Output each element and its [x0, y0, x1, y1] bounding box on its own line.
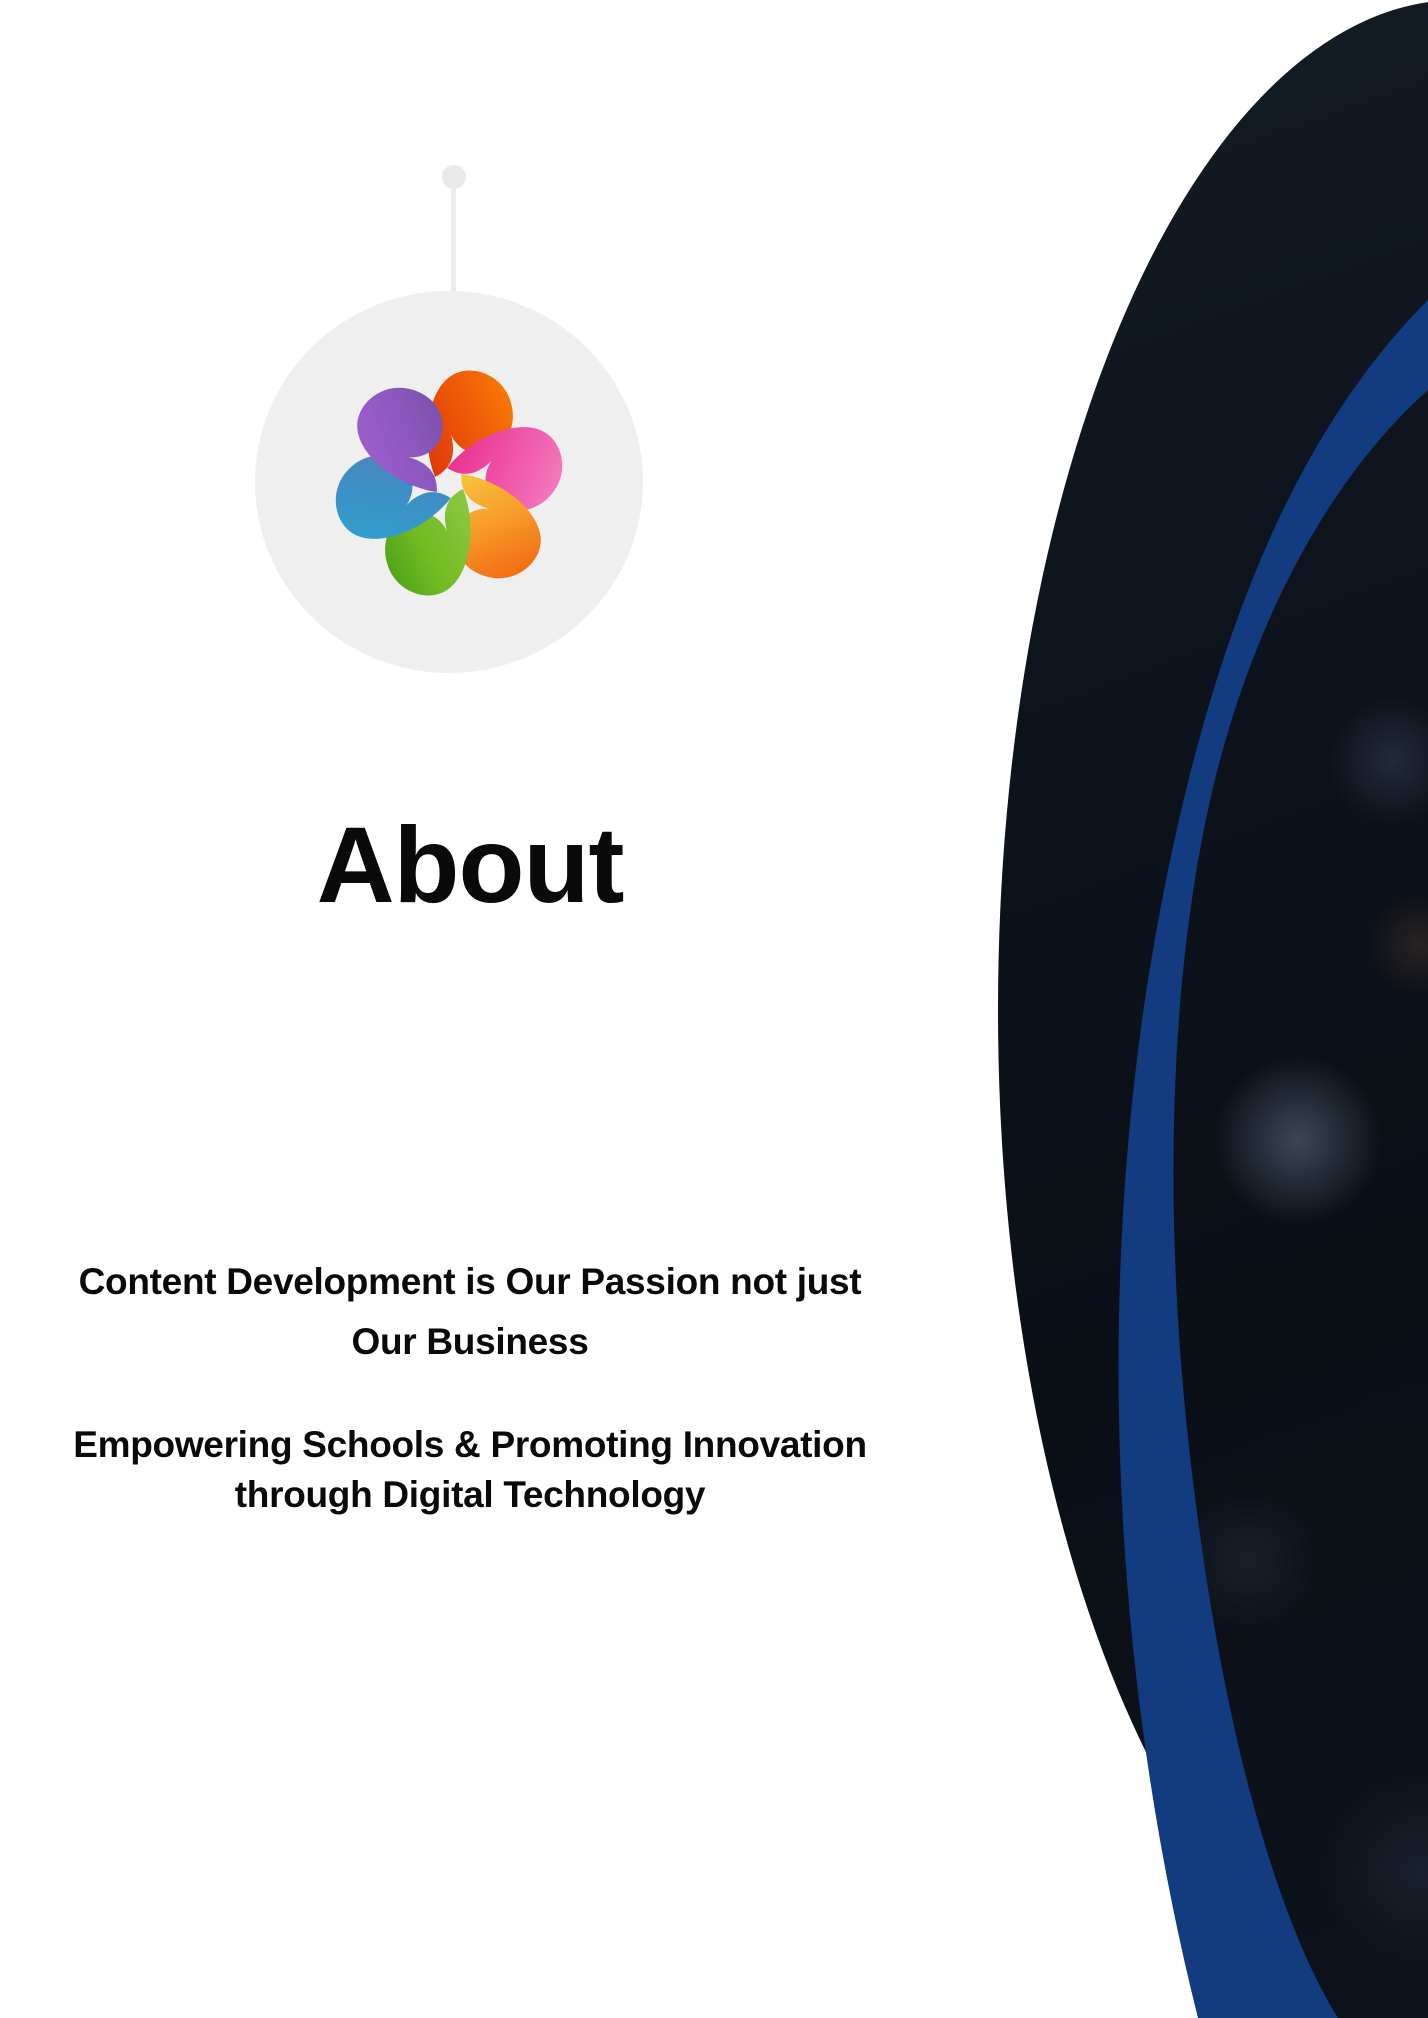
tagline-line-2: Our Business	[20, 1312, 920, 1372]
mission-line-2: through Digital Technology	[20, 1470, 920, 1520]
blue-crescent-band	[998, 0, 1428, 2018]
pinwheel-flower-logo-icon	[281, 315, 617, 651]
mission-line-1: Empowering Schools & Promoting Innovatio…	[20, 1420, 920, 1470]
right-side-decoration	[998, 0, 1428, 2018]
tagline-paragraph: Content Development is Our Passion not j…	[20, 1252, 920, 1372]
about-page: About Content Development is Our Passion…	[0, 0, 1428, 2018]
page-title: About	[0, 808, 940, 921]
mission-paragraph: Empowering Schools & Promoting Innovatio…	[20, 1420, 920, 1519]
photo-crescent-overlay	[998, 0, 1428, 2018]
tagline-line-1: Content Development is Our Passion not j…	[20, 1252, 920, 1312]
hanging-ornament-logo	[255, 165, 647, 675]
ornament-string	[451, 183, 456, 298]
background-photo-panel	[998, 0, 1428, 2018]
